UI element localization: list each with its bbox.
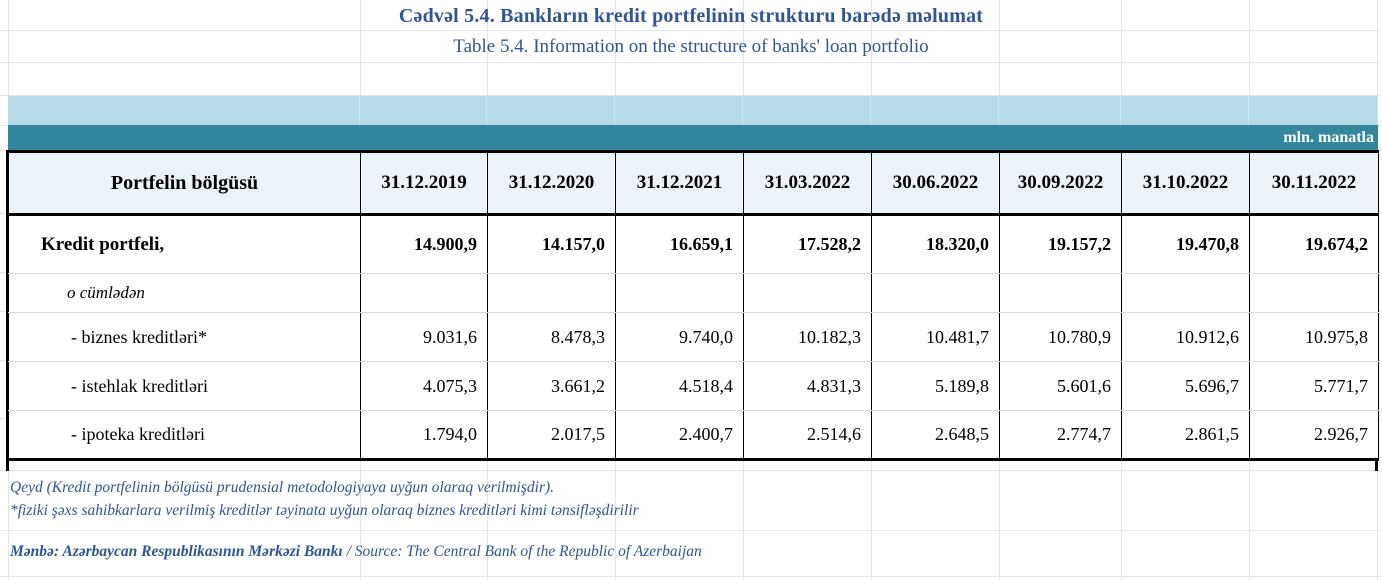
row-label-cell: Kredit portfeli, [9,215,361,274]
table-row: o cümlədən [9,274,1379,313]
decorative-band-segment-8 [1249,96,1378,125]
cell-r2-c7: 10.975,8 [1250,313,1379,362]
decorative-band-segment-2 [487,96,615,125]
decorative-band-segment-1 [360,96,487,125]
table-header-row: Portfelin bölgüsü 31.12.2019 31.12.2020 … [9,152,1379,215]
cell-r3-c5: 5.601,6 [1000,362,1122,411]
row-label-cell: - istehlak kreditləri [9,362,361,411]
cell-r1-c2 [616,274,744,313]
cell-r4-c2: 2.400,7 [616,411,744,460]
cell-r3-c1: 3.661,2 [488,362,616,411]
cell-r0-c5: 19.157,2 [1000,215,1122,274]
column-header-label: Portfelin bölgüsü [111,172,258,194]
grid-row-line-0 [0,30,1382,31]
column-header-date-5: 30.09.2022 [1000,152,1122,215]
column-header-date-2: 31.12.2021 [616,152,744,215]
row-label-cell: - biznes kreditləri* [9,313,361,362]
cell-r2-c5: 10.780,9 [1000,313,1122,362]
cell-r1-c4 [872,274,1000,313]
cell-r3-c7: 5.771,7 [1250,362,1379,411]
source-label-azerbaijani: Mənbə: Azərbaycan Respublikasının Mərkəz… [10,543,343,560]
cell-r0-c3: 17.528,2 [744,215,872,274]
decorative-band-segment-0 [8,96,360,125]
source-label-english: / Source: The Central Bank of the Republ… [343,543,702,560]
table-row: Kredit portfeli, 14.900,9 14.157,0 16.65… [9,215,1379,274]
cell-r0-c4: 18.320,0 [872,215,1000,274]
footnote-methodology: Qeyd (Kredit portfelinin bölgüsü prudens… [10,479,554,497]
cell-r1-c5 [1000,274,1122,313]
column-header-date-6: 31.10.2022 [1122,152,1250,215]
row-label: Kredit portfeli, [19,234,164,256]
decorative-band-segment-4 [743,96,871,125]
cell-r0-c0: 14.900,9 [361,215,488,274]
grid-row-line-12 [0,576,1382,577]
row-label-cell: - ipoteka kreditləri [9,411,361,460]
decorative-band-segment-3 [615,96,743,125]
source-line: Mənbə: Azərbaycan Respublikasının Mərkəz… [10,543,702,561]
row-label-cell: o cümlədən [9,274,361,313]
grid-row-line-11 [0,530,1382,531]
cell-r4-c1: 2.017,5 [488,411,616,460]
footnote-asterisk: *fiziki şəxs sahibkarlara verilmiş kredi… [10,502,639,520]
row-label: - istehlak kreditləri [19,376,208,397]
cell-r1-c1 [488,274,616,313]
cell-r4-c3: 2.514,6 [744,411,872,460]
units-banner: mln. manatla [8,125,1378,150]
row-label: o cümlədən [19,283,145,303]
cell-r0-c2: 16.659,1 [616,215,744,274]
cell-r3-c0: 4.075,3 [361,362,488,411]
cell-r2-c4: 10.481,7 [872,313,1000,362]
grid-row-line-1 [0,62,1382,63]
cell-r1-c3 [744,274,872,313]
cell-r3-c2: 4.518,4 [616,362,744,411]
column-header-date-3: 31.03.2022 [744,152,872,215]
row-label: - biznes kreditləri* [19,327,207,348]
column-header-portfolio-breakdown: Portfelin bölgüsü [9,152,361,215]
cell-r4-c5: 2.774,7 [1000,411,1122,460]
page-title-english: Table 5.4. Information on the structure … [0,33,1382,61]
decorative-band-segment-7 [1121,96,1249,125]
row-label: - ipoteka kreditləri [19,424,205,445]
table-row: - ipoteka kreditləri 1.794,0 2.017,5 2.4… [9,411,1379,460]
cell-r0-c6: 19.470,8 [1122,215,1250,274]
cell-r1-c7 [1250,274,1379,313]
cell-r1-c6 [1122,274,1250,313]
cell-r4-c4: 2.648,5 [872,411,1000,460]
cell-r4-c0: 1.794,0 [361,411,488,460]
loan-portfolio-table: Portfelin bölgüsü 31.12.2019 31.12.2020 … [8,150,1379,461]
cell-r2-c0: 9.031,6 [361,313,488,362]
cell-r2-c1: 8.478,3 [488,313,616,362]
cell-r0-c7: 19.674,2 [1250,215,1379,274]
decorative-band-segment-6 [999,96,1121,125]
cell-r2-c3: 10.182,3 [744,313,872,362]
table-row: - istehlak kreditləri 4.075,3 3.661,2 4.… [9,362,1379,411]
cell-r3-c3: 4.831,3 [744,362,872,411]
cell-r4-c6: 2.861,5 [1122,411,1250,460]
column-header-date-0: 31.12.2019 [361,152,488,215]
decorative-light-band [8,96,1378,125]
table-row: - biznes kreditləri* 9.031,6 8.478,3 9.7… [9,313,1379,362]
decorative-band-segment-5 [871,96,999,125]
grid-row-line-10 [0,470,1382,471]
cell-r3-c4: 5.189,8 [872,362,1000,411]
page-title-azerbaijani: Cədvəl 5.4. Bankların kredit portfelinin… [0,2,1382,30]
cell-r4-c7: 2.926,7 [1250,411,1379,460]
cell-r2-c2: 9.740,0 [616,313,744,362]
cell-r0-c1: 14.157,0 [488,215,616,274]
cell-r2-c6: 10.912,6 [1122,313,1250,362]
cell-r3-c6: 5.696,7 [1122,362,1250,411]
column-header-date-4: 30.06.2022 [872,152,1000,215]
column-header-date-1: 31.12.2020 [488,152,616,215]
cell-r1-c0 [361,274,488,313]
column-header-date-7: 30.11.2022 [1250,152,1379,215]
